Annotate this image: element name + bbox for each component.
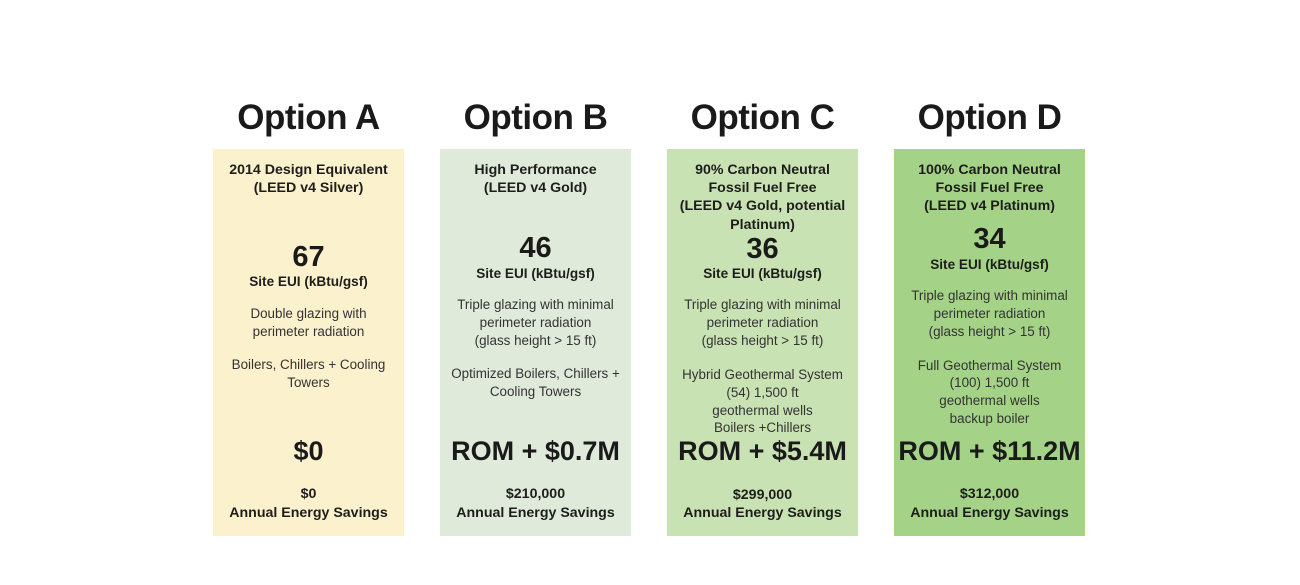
comparison-board: Option A 2014 Design Equivalent (LEED v4… — [0, 0, 1300, 585]
eui-value-a: 67 — [249, 242, 368, 272]
eui-block-d: 34 Site EUI (kBtu/gsf) — [930, 224, 1049, 273]
eui-value-c: 36 — [703, 234, 822, 264]
option-column-d: Option D 100% Carbon Neutral Fossil Fuel… — [894, 100, 1085, 536]
eui-label-b: Site EUI (kBtu/gsf) — [476, 266, 595, 282]
option-column-c: Option C 90% Carbon Neutral Fossil Fuel … — [667, 100, 858, 536]
option-title-a: Option A — [213, 100, 404, 149]
option-subtitle-d: 100% Carbon Neutral Fossil Fuel Free (LE… — [918, 161, 1061, 216]
option-detail-systems-a: Boilers, Chillers + Cooling Towers — [232, 356, 386, 392]
eui-block-a: 67 Site EUI (kBtu/gsf) — [249, 242, 368, 291]
option-detail-envelope-b: Triple glazing with minimal perimeter ra… — [457, 296, 614, 349]
option-detail-systems-c: Hybrid Geothermal System (54) 1,500 ft g… — [682, 366, 843, 437]
option-column-a: Option A 2014 Design Equivalent (LEED v4… — [213, 100, 404, 536]
savings-block-b: $210,000 Annual Energy Savings — [456, 485, 614, 522]
option-title-b: Option B — [440, 100, 631, 149]
option-detail-envelope-a: Double glazing with perimeter radiation — [250, 305, 366, 341]
option-detail-systems-d: Full Geothermal System (100) 1,500 ft ge… — [918, 357, 1062, 428]
savings-label-a: Annual Energy Savings — [229, 504, 387, 522]
options-row: Option A 2014 Design Equivalent (LEED v4… — [213, 100, 1085, 536]
option-subtitle-c: 90% Carbon Neutral Fossil Fuel Free (LEE… — [680, 161, 846, 234]
savings-label-c: Annual Energy Savings — [683, 504, 841, 522]
savings-amount-c: $299,000 — [683, 486, 841, 504]
rom-cost-a: $0 — [293, 437, 323, 465]
option-card-c[interactable]: 90% Carbon Neutral Fossil Fuel Free (LEE… — [667, 149, 858, 536]
option-subtitle-a: 2014 Design Equivalent (LEED v4 Silver) — [229, 161, 388, 197]
savings-amount-d: $312,000 — [910, 485, 1068, 503]
savings-block-d: $312,000 Annual Energy Savings — [910, 485, 1068, 522]
option-detail-systems-b: Optimized Boilers, Chillers + Cooling To… — [451, 365, 620, 401]
rom-cost-c: ROM + $5.4M — [678, 437, 847, 465]
eui-label-c: Site EUI (kBtu/gsf) — [703, 266, 822, 282]
option-card-a[interactable]: 2014 Design Equivalent (LEED v4 Silver) … — [213, 149, 404, 536]
savings-label-d: Annual Energy Savings — [910, 504, 1068, 522]
rom-cost-b: ROM + $0.7M — [451, 437, 620, 465]
savings-block-c: $299,000 Annual Energy Savings — [683, 486, 841, 523]
savings-label-b: Annual Energy Savings — [456, 504, 614, 522]
savings-block-a: $0 Annual Energy Savings — [229, 485, 387, 522]
option-column-b: Option B High Performance (LEED v4 Gold)… — [440, 100, 631, 536]
option-subtitle-b: High Performance (LEED v4 Gold) — [474, 161, 596, 197]
option-card-d[interactable]: 100% Carbon Neutral Fossil Fuel Free (LE… — [894, 149, 1085, 536]
eui-value-b: 46 — [476, 233, 595, 263]
eui-label-d: Site EUI (kBtu/gsf) — [930, 257, 1049, 273]
option-title-d: Option D — [894, 100, 1085, 149]
rom-cost-d: ROM + $11.2M — [898, 437, 1080, 465]
savings-amount-b: $210,000 — [456, 485, 614, 503]
option-detail-envelope-c: Triple glazing with minimal perimeter ra… — [684, 296, 841, 349]
eui-block-c: 36 Site EUI (kBtu/gsf) — [703, 234, 822, 283]
option-card-b[interactable]: High Performance (LEED v4 Gold) 46 Site … — [440, 149, 631, 536]
eui-value-d: 34 — [930, 224, 1049, 254]
eui-label-a: Site EUI (kBtu/gsf) — [249, 274, 368, 290]
option-title-c: Option C — [667, 100, 858, 149]
option-detail-envelope-d: Triple glazing with minimal perimeter ra… — [911, 287, 1068, 340]
savings-amount-a: $0 — [229, 485, 387, 503]
eui-block-b: 46 Site EUI (kBtu/gsf) — [476, 233, 595, 282]
